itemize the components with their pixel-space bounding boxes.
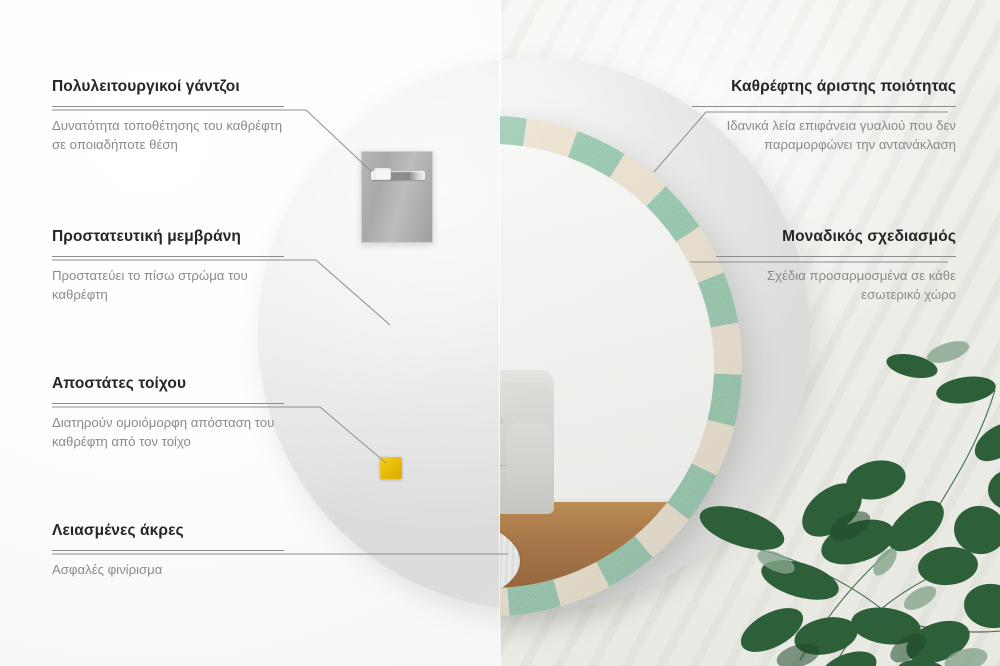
callout-description: Σχέδια προσαρμοσμένα σε κάθε εσωτερικό χ… — [716, 266, 956, 306]
callout-rule — [52, 403, 284, 404]
callout-description: Ασφαλές φινίρισμα — [52, 560, 284, 580]
callout-title: Πολυλειτουργικοί γάντζοι — [52, 78, 284, 97]
callout-title: Λειασμένες άκρες — [52, 522, 284, 541]
callout-title: Καθρέφτης άριστης ποιότητας — [692, 78, 956, 97]
callout-description: Ιδανικά λεία επιφάνεια γυαλιού που δεν π… — [692, 116, 956, 156]
callout-rule — [52, 256, 284, 257]
callout-smooth-edges: Λειασμένες άκρες Ασφαλές φινίρισμα — [52, 522, 284, 579]
leaf-icon — [680, 330, 1000, 666]
callout-title: Προστατευτική μεμβράνη — [52, 228, 284, 247]
callout-membrane: Προστατευτική μεμβράνη Προστατεύει το πί… — [52, 228, 284, 305]
callout-rule — [692, 106, 956, 107]
plant-decoration — [680, 330, 1000, 666]
callout-title: Αποστάτες τοίχου — [52, 375, 284, 394]
callout-wall-spacers: Αποστάτες τοίχου Διατηρούν ομοιόμορφη απ… — [52, 375, 284, 452]
callout-description: Διατηρούν ομοιόμορφη απόσταση του καθρέφ… — [52, 413, 284, 453]
callout-description: Προστατεύει το πίσω στρώμα του καθρέφτη — [52, 266, 284, 306]
callout-rule — [716, 256, 956, 257]
callout-title: Μοναδικός σχεδιασμός — [716, 228, 956, 247]
callout-rule — [52, 550, 284, 551]
callout-quality-mirror: Καθρέφτης άριστης ποιότητας Ιδανικά λεία… — [692, 78, 956, 155]
wall-spacer-icon — [380, 457, 402, 479]
callout-rule — [52, 106, 284, 107]
callout-description: Δυνατότητα τοποθέτησης του καθρέφτη σε ο… — [52, 116, 284, 156]
infographic-stage: Πολυλειτουργικοί γάντζοι Δυνατότητα τοπο… — [0, 0, 1000, 666]
hook-plate-icon — [361, 151, 433, 243]
callout-unique-design: Μοναδικός σχεδιασμός Σχέδια προσαρμοσμέν… — [716, 228, 956, 305]
hook-notch-detail — [374, 168, 391, 180]
callout-hooks: Πολυλειτουργικοί γάντζοι Δυνατότητα τοπο… — [52, 78, 284, 155]
